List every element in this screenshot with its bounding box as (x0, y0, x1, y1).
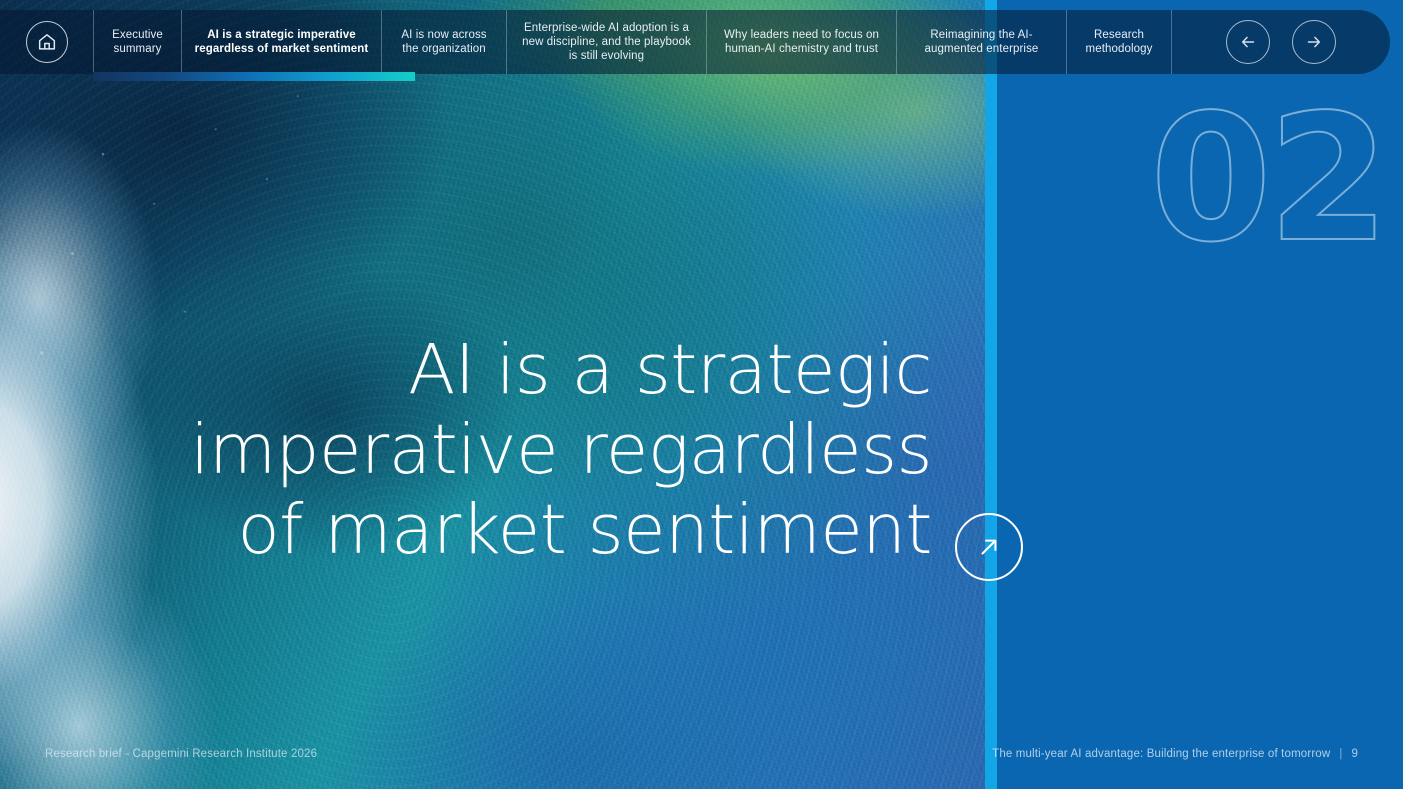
previous-page-button[interactable] (1226, 20, 1270, 64)
home-icon (26, 21, 68, 63)
chapter-progress-bar (93, 72, 415, 81)
tab-reimagining-enterprise[interactable]: Reimagining the AI-augmented enterprise (896, 10, 1066, 74)
page-number: 9 (1351, 748, 1358, 760)
slide-canvas: 02 AI is a strategic imperative regardle… (0, 0, 1403, 789)
footer-document-info: The multi-year AI advantage: Building th… (992, 748, 1358, 760)
tab-ai-across-organization[interactable]: AI is now across the organization (381, 10, 506, 74)
footer-separator: | (1339, 748, 1342, 760)
tab-enterprise-wide-adoption[interactable]: Enterprise-wide AI adoption is a new dis… (506, 10, 706, 74)
chapter-number: 02 (1150, 92, 1386, 267)
hero-title-block: AI is a strategic imperative regardless … (0, 330, 1020, 570)
arrow-up-right-icon[interactable] (955, 513, 1023, 581)
footer-document-title: The multi-year AI advantage: Building th… (992, 748, 1330, 760)
next-page-button[interactable] (1292, 20, 1336, 64)
tab-executive-summary[interactable]: Executive summary (93, 10, 181, 74)
nav-arrow-group (1171, 10, 1390, 74)
home-button[interactable] (0, 10, 93, 74)
page-title: AI is a strategic imperative regardless … (0, 330, 1020, 570)
tab-research-methodology[interactable]: Research methodology (1066, 10, 1171, 74)
footer-source-label: Research brief - Capgemini Research Inst… (45, 748, 317, 760)
top-navigation-bar: Executive summary AI is a strategic impe… (0, 10, 1390, 74)
chapter-tab-list: Executive summary AI is a strategic impe… (93, 10, 1171, 74)
tab-human-ai-chemistry[interactable]: Why leaders need to focus on human-AI ch… (706, 10, 896, 74)
tab-ai-strategic-imperative[interactable]: AI is a strategic imperative regardless … (181, 10, 381, 74)
